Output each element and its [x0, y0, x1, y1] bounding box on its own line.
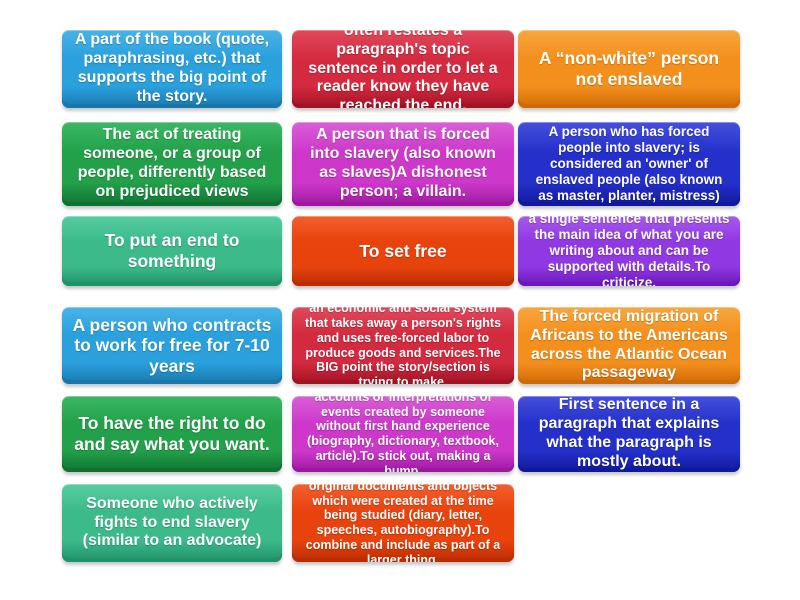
- tile[interactable]: Someone who actively fights to end slave…: [62, 484, 282, 562]
- tile[interactable]: accounts or interpretations of events cr…: [292, 396, 514, 472]
- tile-board: A part of the book (quote, paraphrasing,…: [0, 0, 800, 600]
- tile-label: The forced migration of Africans to the …: [527, 308, 731, 384]
- tile-label: original documents and objects which wer…: [301, 484, 505, 562]
- tile[interactable]: The forced migration of Africans to the …: [518, 307, 740, 384]
- tile[interactable]: The act of treating someone, or a group …: [62, 122, 282, 206]
- tile-label: Someone who actively fights to end slave…: [71, 495, 273, 552]
- tile-label: A part of the book (quote, paraphrasing,…: [71, 31, 273, 107]
- tile-label: A person who contracts to work for free …: [71, 315, 273, 377]
- tile[interactable]: To have the right to do and say what you…: [62, 396, 282, 472]
- tile-label: First sentence in a paragraph that expla…: [527, 396, 731, 472]
- tile-label: To have the right to do and say what you…: [71, 413, 273, 454]
- tile[interactable]: To set free: [292, 216, 514, 286]
- tile[interactable]: A person who contracts to work for free …: [62, 307, 282, 384]
- tile-label: To set free: [301, 241, 505, 262]
- tile[interactable]: a single sentence that presents the main…: [518, 216, 740, 286]
- tile[interactable]: original documents and objects which wer…: [292, 484, 514, 562]
- tile-label: accounts or interpretations of events cr…: [301, 396, 505, 472]
- tile-label: A person who has forced people into slav…: [527, 124, 731, 204]
- tile[interactable]: First sentence in a paragraph that expla…: [518, 396, 740, 472]
- tile[interactable]: To put an end to something: [62, 216, 282, 286]
- tile[interactable]: an economic and social system that takes…: [292, 307, 514, 384]
- tile-label: A “non-white” person not enslaved: [527, 48, 731, 89]
- tile-label: The act of treating someone, or a group …: [71, 126, 273, 202]
- tile-label: To put an end to something: [71, 230, 273, 271]
- tile[interactable]: A person that is forced into slavery (al…: [292, 122, 514, 206]
- tile[interactable]: A “non-white” person not enslaved: [518, 30, 740, 108]
- tile-label: A person that is forced into slavery (al…: [301, 126, 505, 202]
- tile[interactable]: often restates a paragraph's topic sente…: [292, 30, 514, 108]
- tile-label: a single sentence that presents the main…: [527, 216, 731, 286]
- tile-label: often restates a paragraph's topic sente…: [301, 30, 505, 108]
- tile[interactable]: A part of the book (quote, paraphrasing,…: [62, 30, 282, 108]
- tile-label: an economic and social system that takes…: [301, 307, 505, 384]
- tile[interactable]: A person who has forced people into slav…: [518, 122, 740, 206]
